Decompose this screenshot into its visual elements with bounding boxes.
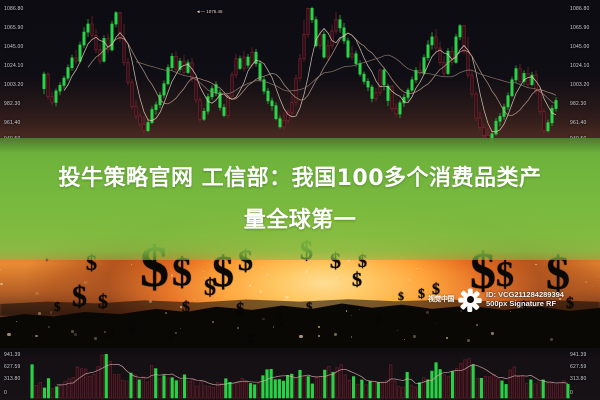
dollar-sign-silhouette: $ xyxy=(108,326,115,339)
price-tick-label: 1003.20 xyxy=(570,82,596,88)
dollar-sign-silhouette: $ xyxy=(398,290,404,302)
logo-center-dot xyxy=(467,296,474,303)
light-speck xyxy=(0,283,2,285)
price-tick-label: 1045.00 xyxy=(570,44,596,50)
light-speck xyxy=(476,324,478,326)
headline-line-2: 量全球第一 xyxy=(0,200,600,242)
dollar-sign-silhouette: $ xyxy=(182,300,190,316)
dollar-sign-silhouette: $ xyxy=(54,300,61,313)
news-banner-image: ✦ $$$$$$$$$$$$$$$$$$$$$$$$$$$$$$ ◄— 1076… xyxy=(0,0,600,400)
dollar-sign-silhouette: $ xyxy=(168,330,174,342)
light-speck xyxy=(550,338,552,340)
light-speck xyxy=(592,286,593,287)
dollar-sign-silhouette: $ xyxy=(98,292,108,312)
volume-tick-label: 313.80 xyxy=(4,376,21,382)
light-speck xyxy=(74,333,77,336)
dollar-sign-silhouette: $ xyxy=(376,316,382,327)
watermark-text-block: ID: VCG211284289394 500px Signature RF xyxy=(486,290,564,309)
candlestick-series xyxy=(0,0,600,145)
price-tick-label: 1086.80 xyxy=(4,6,23,12)
dollar-sign-silhouette: $ xyxy=(236,300,245,317)
volume-tick-label: 313.80 xyxy=(570,376,587,382)
price-tick-label: 1045.00 xyxy=(4,44,23,50)
candlestick-chart: ◄— 1076.45 1086.801065.901045.001024.101… xyxy=(0,0,600,145)
volume-tick-label: 941.39 xyxy=(4,352,21,358)
dollar-sign-silhouette: $ xyxy=(72,282,87,312)
price-tick-label: 961.40 xyxy=(570,120,596,126)
dollar-sign-silhouette: $ xyxy=(418,288,425,302)
light-speck xyxy=(175,332,176,333)
light-speck xyxy=(318,335,321,338)
volume-tick-label: 0 xyxy=(570,390,573,396)
light-speck xyxy=(334,333,336,335)
light-speck xyxy=(344,279,346,281)
light-speck xyxy=(335,276,338,279)
light-speck xyxy=(397,330,398,331)
price-tick-label: 1003.20 xyxy=(4,82,23,88)
price-tick-label: 1065.90 xyxy=(570,25,596,31)
light-speck xyxy=(305,270,308,273)
volume-tick-label: 627.59 xyxy=(4,364,21,370)
dollar-sign-silhouette: $ xyxy=(204,276,216,300)
volume-tick-label: 627.59 xyxy=(570,364,587,370)
light-speck xyxy=(48,326,50,328)
light-speck xyxy=(7,333,10,336)
price-tick-label: 982.30 xyxy=(4,101,21,107)
watermark-license: 500px Signature RF xyxy=(486,299,564,309)
volume-chart: 941.39627.59313.800 941.39627.59313.800 xyxy=(0,348,600,400)
light-speck xyxy=(408,278,410,280)
light-speck xyxy=(413,335,415,337)
light-speck xyxy=(237,327,239,329)
volume-tick-label: 941.39 xyxy=(570,352,587,358)
dollar-sign-silhouette: $ xyxy=(566,296,574,312)
page-title: 投牛策略官网 工信部：我国100多个消费品类产 量全球第一 xyxy=(0,158,600,242)
volume-bar-series xyxy=(0,348,600,400)
watermark: 视觉中国 ID: VCG211284289394 500px Signature… xyxy=(428,286,564,312)
dollar-sign-silhouette: $ xyxy=(276,314,284,329)
watermark-id: ID: VCG211284289394 xyxy=(486,290,564,300)
volume-tick-label: 0 xyxy=(4,390,7,396)
light-speck xyxy=(165,312,167,314)
light-speck xyxy=(35,292,38,295)
dollar-sign-silhouette: $ xyxy=(352,270,362,290)
price-tick-label: 1065.90 xyxy=(4,25,23,31)
watermark-brand-label: 视觉中国 xyxy=(428,294,454,304)
price-tick-label: 982.30 xyxy=(570,101,596,107)
price-tick-label: 1024.10 xyxy=(570,63,596,69)
visual-china-logo-icon xyxy=(457,286,483,312)
chart-annotation: ◄— 1076.45 xyxy=(196,9,222,14)
light-speck xyxy=(285,296,288,299)
price-tick-label: 1024.10 xyxy=(4,63,23,69)
price-tick-label: 961.40 xyxy=(4,120,21,126)
price-tick-label: 1086.80 xyxy=(570,6,596,12)
light-speck xyxy=(491,332,494,335)
headline-line-1: 投牛策略官网 工信部：我国100多个消费品类产 xyxy=(0,158,600,200)
light-speck xyxy=(446,337,448,339)
dollar-sign-silhouette: $ xyxy=(128,318,137,335)
light-speck xyxy=(346,310,348,312)
dollar-sign-silhouette: $ xyxy=(306,300,313,313)
dollar-sign-silhouette: $ xyxy=(248,332,255,345)
